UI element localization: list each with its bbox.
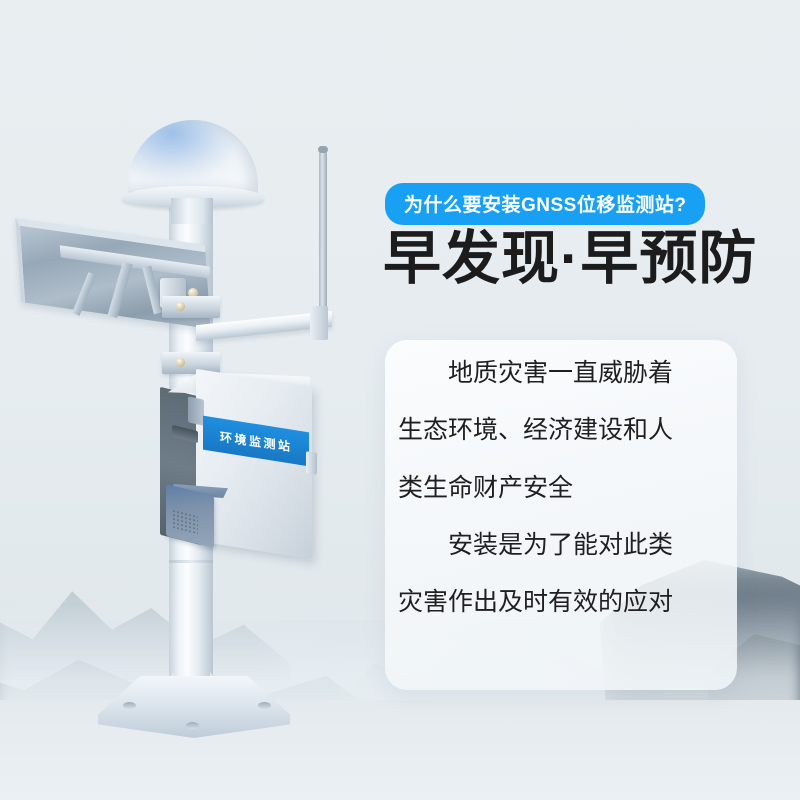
mast-clamp-mid-bolt xyxy=(176,358,185,367)
base-bolt-hole-right xyxy=(258,702,271,709)
description-line-2: 生态环境、经济建设和人 xyxy=(398,415,728,446)
mast-seam-lower xyxy=(169,560,213,563)
mast-clamp-upper xyxy=(162,296,220,318)
poster-canvas: 环境监测站 为什么要安装GNSS位移监测站? 早发现·早预防 地质灾害一直威胁着… xyxy=(0,0,800,800)
cabinet-label-text: 环境监测站 xyxy=(220,427,293,454)
description-line-3: 类生命财产安全 xyxy=(398,473,728,504)
gnss-antenna-dome-icon xyxy=(128,120,258,196)
description-line-4: 安装是为了能对此类 xyxy=(398,530,728,561)
cabinet-bracket-upper xyxy=(188,396,204,425)
base-bolt-hole-front xyxy=(186,722,199,729)
description-text-block: 地质灾害一直威胁着 生态环境、经济建设和人 类生命财产安全 安装是为了能对此类 … xyxy=(398,358,728,618)
whip-antenna-tip xyxy=(318,146,328,153)
cross-arm-end-bracket xyxy=(310,306,328,340)
description-line-1: 地质灾害一直威胁着 xyxy=(398,358,728,389)
monitoring-station-illustration: 环境监测站 xyxy=(0,0,400,800)
question-badge: 为什么要安装GNSS位移监测站? xyxy=(385,183,705,225)
whip-antenna xyxy=(319,150,327,316)
page-title: 早发现·早预防 xyxy=(383,226,757,293)
mast-clamp-upper-bolt xyxy=(176,302,185,311)
base-bolt-hole-left xyxy=(123,702,136,709)
cabinet-door-latch xyxy=(306,451,317,475)
gnss-antenna-neck xyxy=(171,198,213,224)
description-line-5: 灾害作出及时有效的应对 xyxy=(398,587,728,618)
